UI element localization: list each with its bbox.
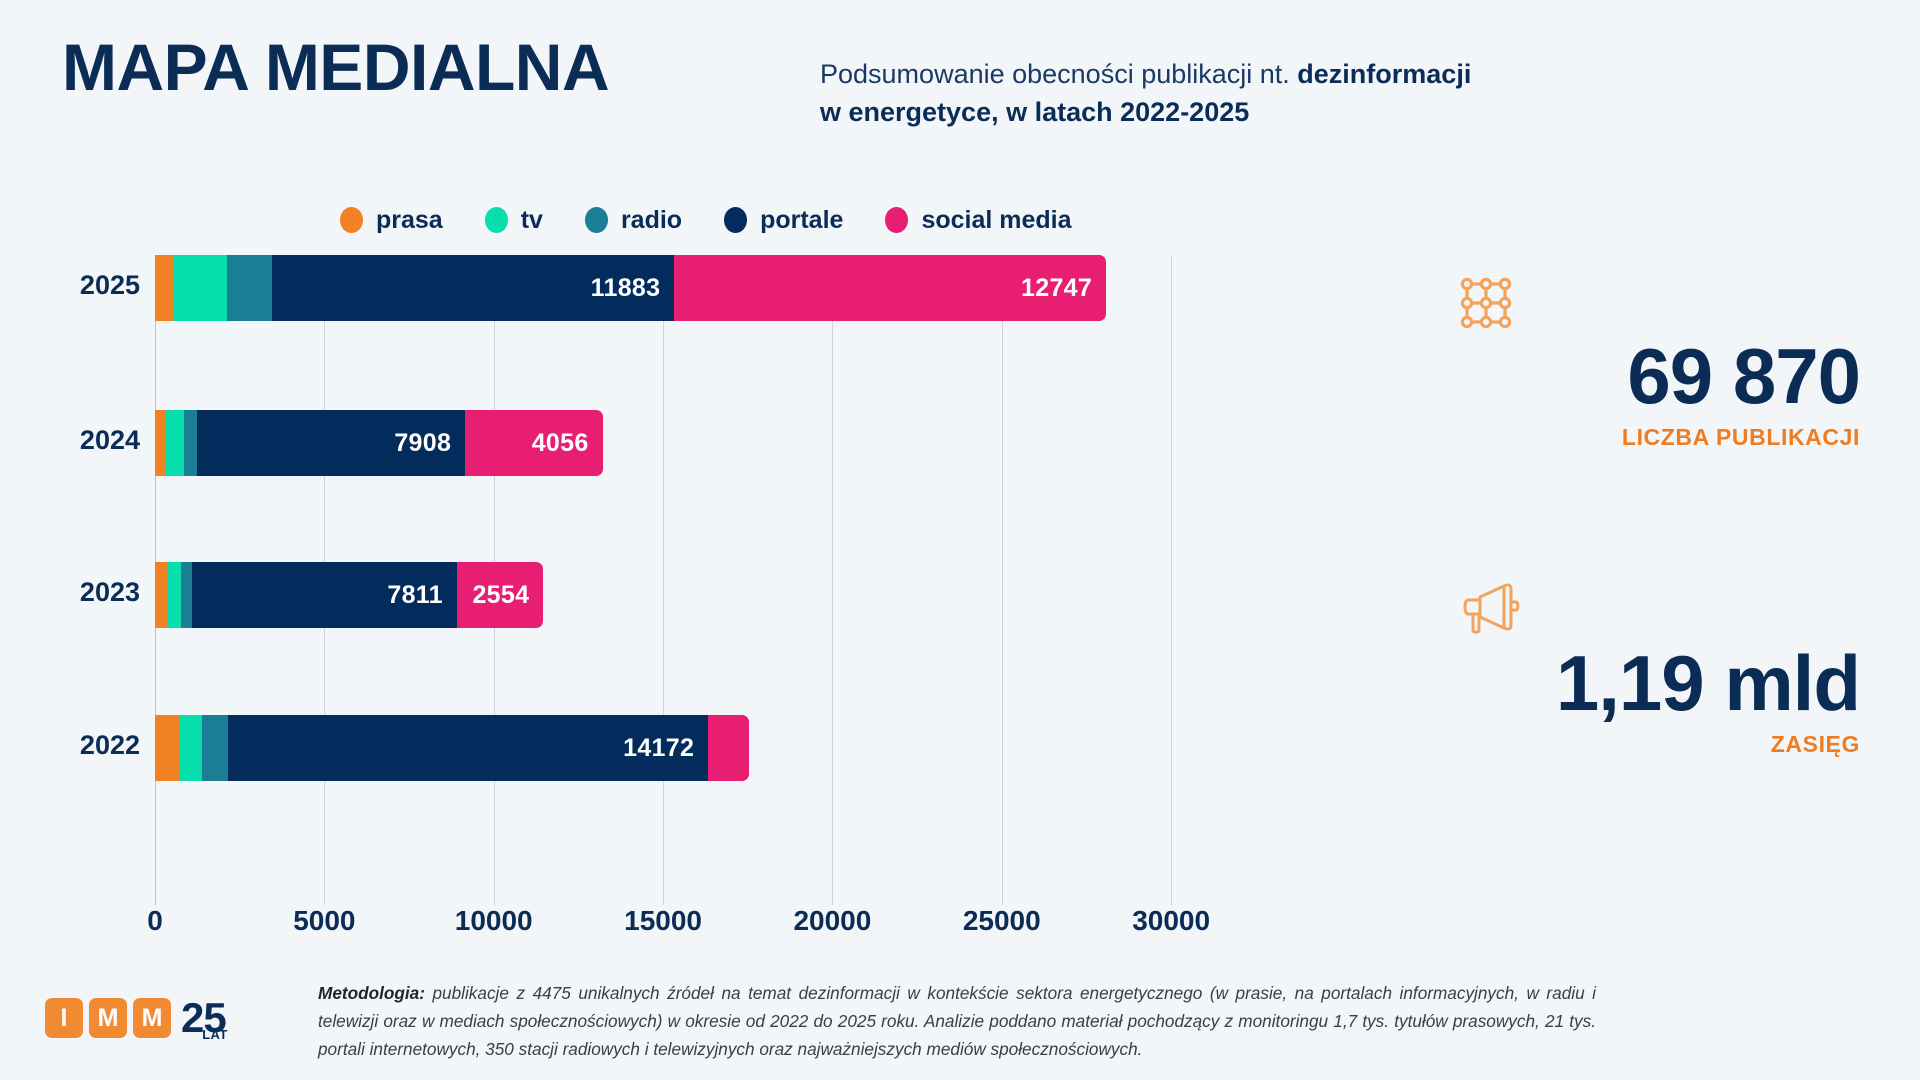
- legend-item-prasa[interactable]: prasa: [340, 206, 443, 235]
- gridline: [1171, 255, 1172, 905]
- bar-value-label: 7811: [387, 581, 456, 610]
- gridline: [832, 255, 833, 905]
- legend-dot-social-media: [885, 207, 908, 233]
- stacked-bar: 1188312747: [155, 255, 1106, 321]
- bar-segment-social-media[interactable]: [708, 715, 749, 781]
- legend-label-social-media: social media: [921, 206, 1071, 235]
- header: MAPA MEDIALNA Podsumowanie obecności pub…: [0, 0, 1920, 160]
- stat-reach-value: 1,19 mld: [1400, 643, 1860, 725]
- page-title: MAPA MEDIALNA: [62, 34, 609, 100]
- gridline: [1002, 255, 1003, 905]
- bar-segment-radio[interactable]: [184, 410, 198, 476]
- bar-segment-portale[interactable]: 11883: [272, 255, 674, 321]
- legend-dot-portale: [724, 207, 747, 233]
- bar-segment-social-media[interactable]: 4056: [465, 410, 602, 476]
- bar-segment-radio[interactable]: [181, 562, 192, 628]
- bar-value-label: 11883: [591, 274, 675, 303]
- bar-row[interactable]: 14172: [155, 715, 749, 781]
- bar-segment-tv[interactable]: [174, 255, 227, 321]
- bar-row[interactable]: 1188312747: [155, 255, 1106, 321]
- x-axis-tick-labels: 050001000015000200002500030000: [155, 905, 1255, 945]
- subtitle-bold-sector: w energetyce, w latach 2022-2025: [820, 97, 1249, 127]
- methodology-note: Metodologia: publikacje z 4475 unikalnyc…: [318, 980, 1596, 1064]
- bar-row[interactable]: 78112554: [155, 562, 543, 628]
- bar-segment-tv[interactable]: [179, 715, 203, 781]
- legend-item-portale[interactable]: portale: [724, 206, 843, 235]
- logo-letter-i: I: [45, 998, 83, 1038]
- logo-anniversary-suffix: LAT: [202, 1029, 228, 1041]
- imm-logo[interactable]: I M M 25 LAT: [45, 998, 226, 1038]
- chart-legend: prasa tv radio portale social media: [340, 200, 1072, 240]
- legend-label-radio: radio: [621, 206, 682, 235]
- year-label-2022: 2022: [20, 730, 140, 761]
- bar-segment-portale[interactable]: 7811: [192, 562, 457, 628]
- bar-value-label: 14172: [623, 734, 708, 763]
- year-label-2023: 2023: [20, 577, 140, 608]
- bar-segment-tv[interactable]: [166, 410, 184, 476]
- x-tick-label: 25000: [963, 905, 1041, 937]
- stat-reach-label: ZASIĘG: [1400, 731, 1860, 758]
- bar-segment-social-media[interactable]: 12747: [674, 255, 1106, 321]
- footer: I M M 25 LAT Metodologia: publikacje z 4…: [0, 980, 1920, 1080]
- legend-label-portale: portale: [760, 206, 843, 235]
- x-tick-label: 10000: [455, 905, 533, 937]
- legend-label-prasa: prasa: [376, 206, 443, 235]
- bar-row[interactable]: 79084056: [155, 410, 603, 476]
- bar-segment-radio[interactable]: [202, 715, 228, 781]
- legend-item-radio[interactable]: radio: [585, 206, 682, 235]
- x-tick-label: 30000: [1132, 905, 1210, 937]
- legend-dot-prasa: [340, 207, 363, 233]
- stat-publications-label: LICZBA PUBLIKACJI: [1440, 424, 1860, 451]
- stat-publications: 69 870 LICZBA PUBLIKACJI: [1440, 275, 1860, 451]
- methodology-text: publikacje z 4475 unikalnych źródeł na t…: [318, 983, 1596, 1059]
- methodology-label: Metodologia:: [318, 983, 425, 1003]
- stacked-bar: 78112554: [155, 562, 543, 628]
- bar-value-label: 2554: [472, 581, 543, 610]
- bar-segment-portale[interactable]: 14172: [228, 715, 708, 781]
- stat-publications-value: 69 870: [1440, 336, 1860, 418]
- gridline: [663, 255, 664, 905]
- legend-item-social-media[interactable]: social media: [885, 206, 1071, 235]
- bar-value-label: 7908: [394, 429, 465, 458]
- stacked-bar-chart: 1188312747202579084056202478112554202314…: [0, 255, 1400, 915]
- bar-segment-prasa[interactable]: [155, 715, 179, 781]
- legend-label-tv: tv: [521, 206, 543, 235]
- x-tick-label: 5000: [293, 905, 355, 937]
- year-label-2025: 2025: [20, 270, 140, 301]
- legend-dot-tv: [485, 207, 508, 233]
- grid-dots-icon: [1458, 275, 1860, 336]
- subtitle-regular: Podsumowanie obecności publikacji nt.: [820, 59, 1297, 89]
- bar-segment-tv[interactable]: [167, 562, 181, 628]
- logo-letter-m1: M: [89, 998, 127, 1038]
- bar-segment-portale[interactable]: 7908: [197, 410, 465, 476]
- x-tick-label: 0: [147, 905, 163, 937]
- bar-segment-prasa[interactable]: [155, 562, 167, 628]
- x-tick-label: 15000: [624, 905, 702, 937]
- subtitle-bold-topic: dezinformacji: [1297, 59, 1471, 89]
- year-label-2024: 2024: [20, 425, 140, 456]
- logo-letter-m2: M: [133, 998, 171, 1038]
- legend-item-tv[interactable]: tv: [485, 206, 543, 235]
- x-tick-label: 20000: [793, 905, 871, 937]
- logo-anniversary: 25 LAT: [181, 998, 226, 1038]
- bar-value-label: 12747: [1021, 274, 1106, 303]
- legend-dot-radio: [585, 207, 608, 233]
- stacked-bar: 14172: [155, 715, 749, 781]
- bar-segment-radio[interactable]: [227, 255, 272, 321]
- bar-segment-prasa[interactable]: [155, 255, 174, 321]
- chart-plot-area: 1188312747202579084056202478112554202314…: [155, 255, 1205, 905]
- stacked-bar: 79084056: [155, 410, 603, 476]
- bar-value-label: 4056: [532, 429, 603, 458]
- subtitle: Podsumowanie obecności publikacji nt. de…: [820, 55, 1720, 132]
- bar-segment-social-media[interactable]: 2554: [457, 562, 544, 628]
- bar-segment-prasa[interactable]: [155, 410, 166, 476]
- megaphone-icon: [1460, 580, 1860, 643]
- stat-reach: 1,19 mld ZASIĘG: [1400, 580, 1860, 758]
